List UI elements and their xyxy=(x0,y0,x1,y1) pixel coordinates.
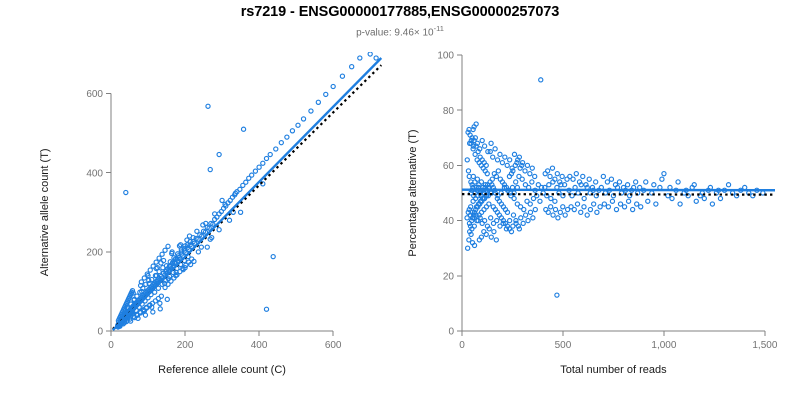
data-point xyxy=(466,169,470,173)
y-axis-tick-label: 100 xyxy=(437,51,454,62)
data-point xyxy=(635,202,639,206)
data-point xyxy=(528,202,532,206)
data-point xyxy=(547,183,551,187)
data-point xyxy=(595,210,599,214)
data-point xyxy=(466,246,470,250)
data-point xyxy=(522,207,526,211)
data-point xyxy=(548,174,552,178)
data-point xyxy=(606,205,610,209)
data-point xyxy=(261,161,265,165)
data-point xyxy=(309,109,313,113)
data-point xyxy=(316,100,320,104)
data-point xyxy=(264,156,268,160)
data-point xyxy=(528,210,532,214)
data-point xyxy=(587,177,591,181)
data-point xyxy=(579,210,583,214)
data-point xyxy=(166,244,170,248)
data-point xyxy=(489,216,493,220)
y-axis-title: Percentage alternative (T) xyxy=(407,129,419,256)
fit-line xyxy=(113,58,381,330)
data-point xyxy=(617,180,621,184)
data-point xyxy=(634,180,638,184)
data-point xyxy=(154,260,158,264)
data-point xyxy=(274,147,278,151)
data-point xyxy=(350,65,354,69)
data-point xyxy=(508,158,512,162)
data-point xyxy=(217,228,221,232)
data-point xyxy=(511,213,515,217)
y-axis-tick-label: 600 xyxy=(86,89,103,100)
data-point xyxy=(264,307,268,311)
data-point xyxy=(609,177,613,181)
x-axis-tick-label: 0 xyxy=(459,340,465,351)
data-point xyxy=(676,180,680,184)
data-point xyxy=(159,294,163,298)
data-layer xyxy=(462,78,775,297)
data-point xyxy=(487,202,491,206)
right-plot-svg: 02040608010005001,0001,500Total number o… xyxy=(400,0,800,400)
data-point xyxy=(213,212,217,216)
data-point xyxy=(196,250,200,254)
data-point xyxy=(489,235,493,239)
left-plot-svg: 02004006000200400600Reference allele cou… xyxy=(0,0,400,400)
data-point xyxy=(519,216,523,220)
y-axis-tick-label: 20 xyxy=(443,271,455,282)
data-point xyxy=(206,104,210,108)
data-point xyxy=(205,245,209,249)
data-point xyxy=(285,135,289,139)
data-point xyxy=(358,56,362,60)
data-point xyxy=(290,129,294,133)
data-point xyxy=(148,268,152,272)
data-point xyxy=(495,158,499,162)
data-point xyxy=(492,230,496,234)
data-point xyxy=(558,210,562,214)
data-point xyxy=(331,84,335,88)
data-point xyxy=(694,199,698,203)
y-axis-tick-label: 400 xyxy=(86,168,103,179)
data-point xyxy=(374,56,378,60)
x-axis-tick-label: 400 xyxy=(251,340,268,351)
data-point xyxy=(582,196,586,200)
data-point xyxy=(494,238,498,242)
scatter-panel-left: 02004006000200400600Reference allele cou… xyxy=(0,0,400,400)
data-point xyxy=(520,177,524,181)
data-point xyxy=(241,127,245,131)
data-point xyxy=(480,138,484,142)
data-point xyxy=(124,190,128,194)
data-point xyxy=(551,213,555,217)
y-axis-tick-label: 200 xyxy=(86,247,103,258)
data-point xyxy=(533,207,537,211)
data-point xyxy=(555,172,559,176)
fifty-percent-line xyxy=(462,194,775,195)
data-point xyxy=(368,52,372,56)
data-point xyxy=(521,221,525,225)
data-point xyxy=(158,301,162,305)
data-point xyxy=(592,202,596,206)
data-point xyxy=(533,174,537,178)
data-point xyxy=(238,210,242,214)
data-point xyxy=(572,207,576,211)
data-point xyxy=(555,293,559,297)
data-point xyxy=(576,191,580,195)
data-point xyxy=(538,199,542,203)
data-point xyxy=(484,232,488,236)
data-point xyxy=(493,147,497,151)
data-point xyxy=(622,205,626,209)
data-point xyxy=(479,180,483,184)
data-point xyxy=(702,196,706,200)
data-point xyxy=(279,141,283,145)
data-point xyxy=(670,196,674,200)
data-point xyxy=(142,276,146,280)
data-point xyxy=(158,307,162,311)
data-point xyxy=(503,155,507,159)
data-point xyxy=(495,219,499,223)
data-point xyxy=(143,313,147,317)
y-axis-tick-label: 80 xyxy=(443,106,455,117)
data-point xyxy=(563,213,567,217)
data-point xyxy=(483,144,487,148)
data-point xyxy=(585,213,589,217)
data-point xyxy=(553,199,557,203)
data-point xyxy=(220,198,224,202)
data-point xyxy=(556,216,560,220)
data-point xyxy=(199,245,203,249)
y-axis-tick-label: 0 xyxy=(97,327,103,338)
data-point xyxy=(550,166,554,170)
data-point xyxy=(602,202,606,206)
data-point xyxy=(639,205,643,209)
data-point xyxy=(594,180,598,184)
data-point xyxy=(618,202,622,206)
data-point xyxy=(598,205,602,209)
fit-line xyxy=(462,190,775,191)
data-point xyxy=(151,264,155,268)
data-point xyxy=(489,141,493,145)
data-point xyxy=(227,218,231,222)
data-point xyxy=(268,152,272,156)
data-point xyxy=(238,187,242,191)
data-point xyxy=(660,177,664,181)
data-point xyxy=(761,191,765,195)
x-axis-tick-label: 600 xyxy=(325,340,342,351)
data-point xyxy=(257,165,261,169)
data-point xyxy=(627,199,631,203)
data-point xyxy=(195,229,199,233)
data-point xyxy=(253,169,257,173)
data-point xyxy=(512,152,516,156)
data-point xyxy=(208,167,212,171)
x-axis-tick-label: 1,500 xyxy=(752,340,777,351)
data-point xyxy=(546,210,550,214)
data-point xyxy=(496,169,500,173)
data-point xyxy=(324,92,328,96)
data-point xyxy=(340,74,344,78)
x-axis-tick-label: 1,000 xyxy=(651,340,676,351)
data-point xyxy=(514,180,518,184)
data-point xyxy=(498,152,502,156)
y-axis-title: Alternative allele count (T) xyxy=(39,148,51,276)
data-point xyxy=(465,158,469,162)
data-point xyxy=(601,174,605,178)
data-point xyxy=(160,252,164,256)
data-point xyxy=(217,152,221,156)
data-point xyxy=(165,297,169,301)
data-point xyxy=(654,202,658,206)
data-point xyxy=(271,255,275,259)
data-point xyxy=(549,196,553,200)
data-point xyxy=(157,256,161,260)
data-point xyxy=(588,207,592,211)
x-axis-tick-label: 500 xyxy=(555,340,572,351)
data-point xyxy=(718,196,722,200)
data-point xyxy=(483,219,487,223)
data-point xyxy=(523,169,527,173)
data-point xyxy=(151,310,155,314)
data-point xyxy=(662,172,666,176)
data-point xyxy=(625,183,629,187)
data-point xyxy=(582,205,586,209)
data-point xyxy=(581,174,585,178)
data-point xyxy=(526,219,530,223)
data-point xyxy=(560,174,564,178)
data-point xyxy=(508,219,512,223)
data-point xyxy=(571,177,575,181)
x-axis-title: Total number of reads xyxy=(560,364,667,376)
data-point xyxy=(614,207,618,211)
figure-container: rs7219 - ENSG00000177885,ENSG00000257073… xyxy=(0,0,800,400)
y-axis-tick-label: 40 xyxy=(443,216,455,227)
data-point xyxy=(524,213,528,217)
data-point xyxy=(491,155,495,159)
data-point xyxy=(726,183,730,187)
y-axis-tick-label: 0 xyxy=(448,327,454,338)
data-point xyxy=(610,199,614,203)
scatter-panel-right: 02040608010005001,0001,500Total number o… xyxy=(400,0,800,400)
data-point xyxy=(301,117,305,121)
data-point xyxy=(652,183,656,187)
data-point xyxy=(546,169,550,173)
x-axis-title: Reference allele count (C) xyxy=(158,364,286,376)
data-point xyxy=(549,205,553,209)
data-point xyxy=(531,216,535,220)
data-point xyxy=(528,172,532,176)
data-point xyxy=(631,207,635,211)
data-point xyxy=(475,177,479,181)
data-point xyxy=(743,185,747,189)
data-point xyxy=(644,180,648,184)
data-point xyxy=(163,248,167,252)
data-point xyxy=(530,166,534,170)
data-point xyxy=(710,202,714,206)
data-point xyxy=(561,205,565,209)
data-point xyxy=(574,172,578,176)
y-axis-tick-label: 60 xyxy=(443,161,455,172)
data-point xyxy=(510,166,514,170)
data-point xyxy=(678,202,682,206)
x-axis-tick-label: 200 xyxy=(177,340,194,351)
data-point xyxy=(505,163,509,167)
data-layer xyxy=(113,52,381,330)
data-point xyxy=(553,207,557,211)
data-point xyxy=(296,123,300,127)
data-point xyxy=(530,180,534,184)
data-point xyxy=(646,199,650,203)
data-point xyxy=(250,173,254,177)
data-point xyxy=(575,202,579,206)
data-point xyxy=(539,78,543,82)
data-point xyxy=(525,163,529,167)
data-point xyxy=(500,161,504,165)
data-point xyxy=(244,180,248,184)
data-point xyxy=(605,180,609,184)
x-axis-tick-label: 0 xyxy=(108,340,114,351)
